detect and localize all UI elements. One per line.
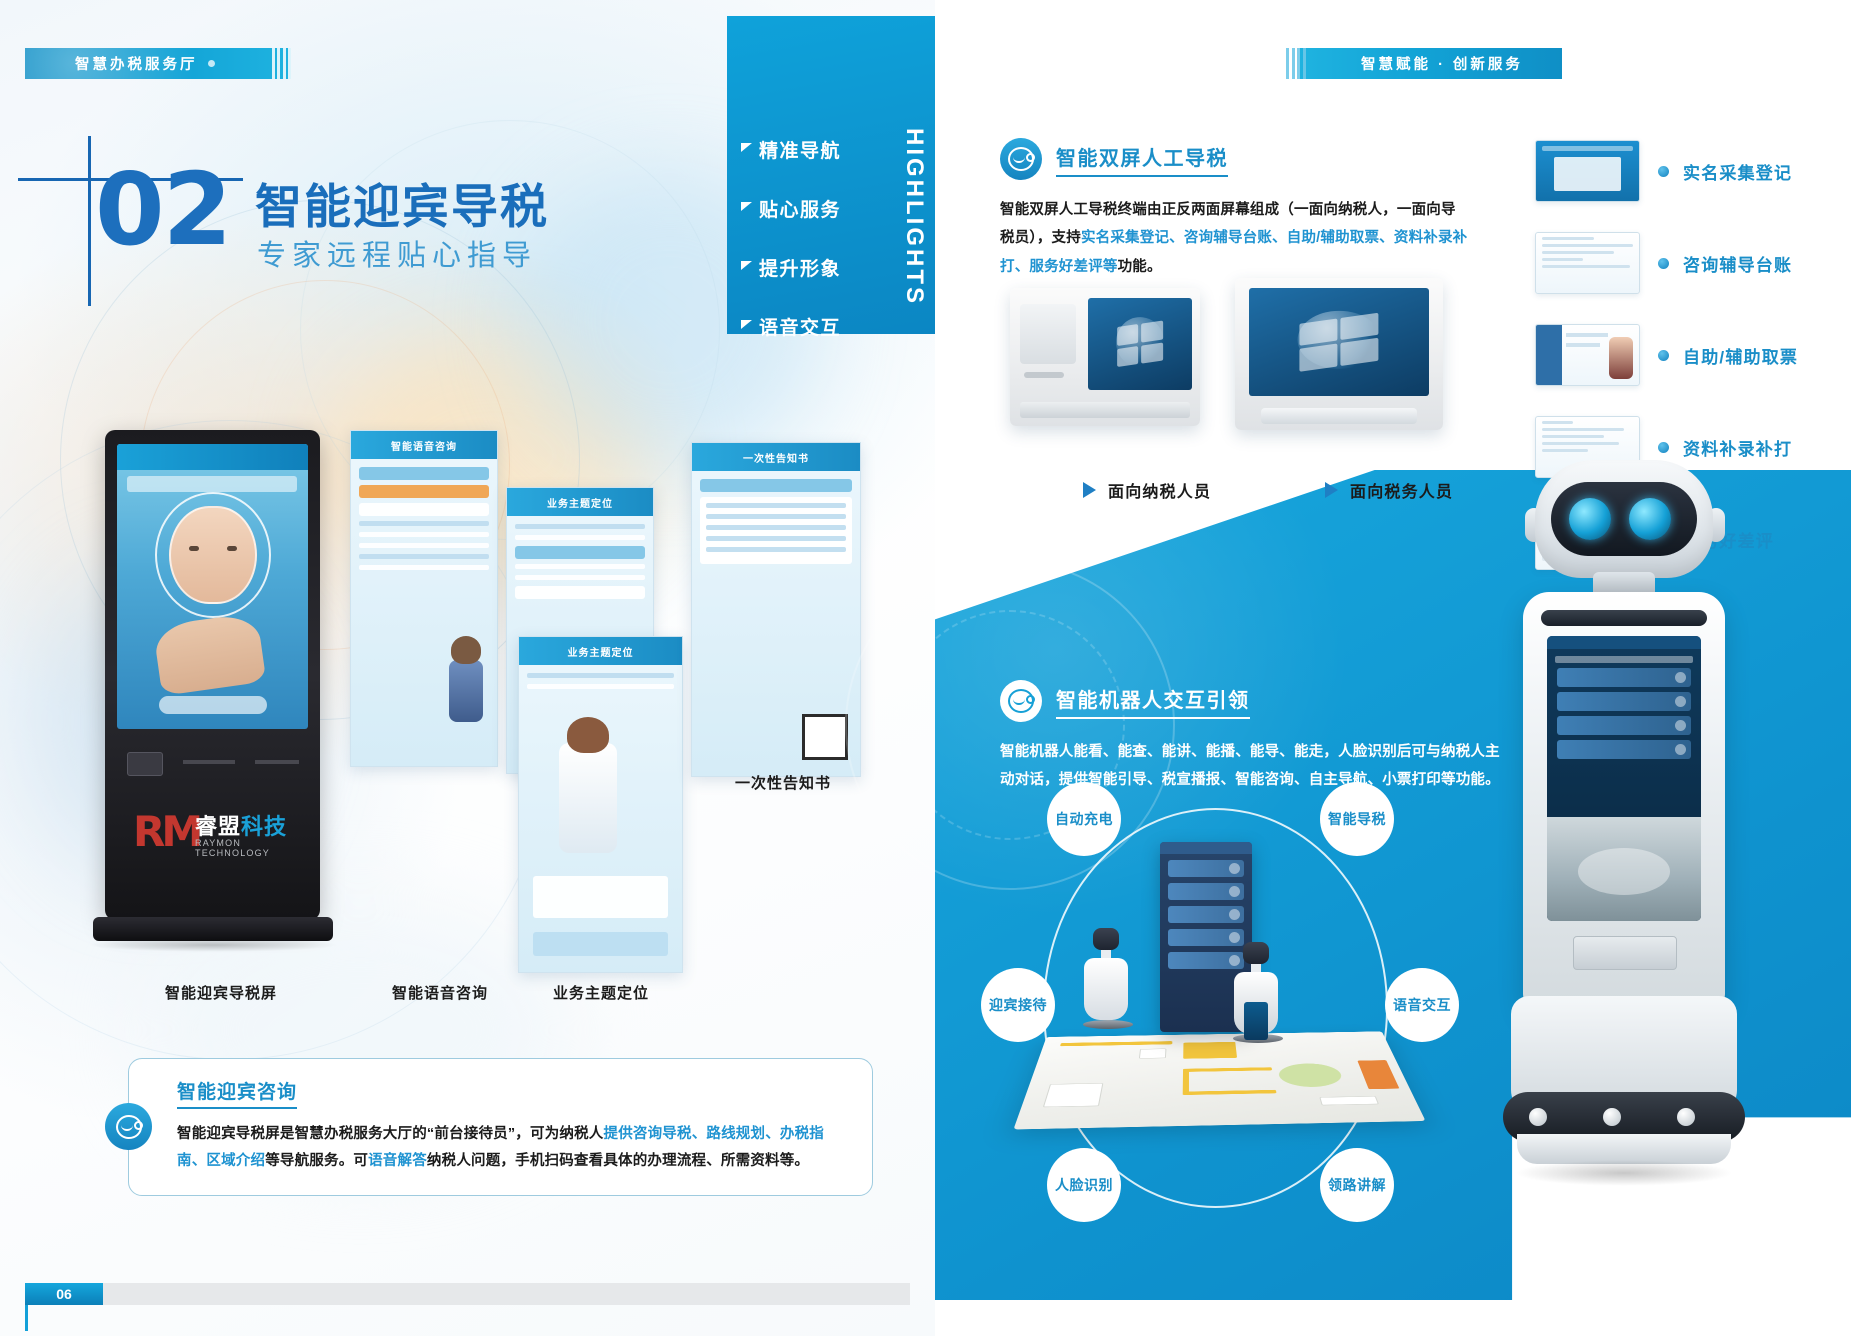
triangle-icon — [1083, 482, 1096, 498]
mock-panel — [533, 932, 668, 956]
screen-mock-header: 智能语音咨询 — [351, 431, 497, 459]
feature-label: 资料补录补打 — [1683, 435, 1792, 460]
right-header-ribbon: 智慧赋能 · 创新服务 — [1300, 48, 1562, 79]
robot-body — [1234, 972, 1278, 1034]
kiosk-photo: RM 睿盟科技 RAYMON TECHNOLOGY — [105, 430, 330, 960]
feature-row: 自助/辅助取票 — [1535, 324, 1835, 386]
robot-screen-title — [1555, 656, 1693, 663]
device-frame — [1235, 278, 1443, 430]
mock-line — [515, 524, 645, 529]
ribbon-glow — [25, 48, 291, 79]
windows-logo-icon — [1299, 313, 1378, 372]
feature-row: 咨询辅导台账 — [1535, 232, 1835, 294]
robot-screen-header — [1547, 636, 1701, 649]
body-text: 等导航服务。可 — [265, 1153, 368, 1169]
device-caption-officer: 面向税务人员 — [1325, 478, 1453, 502]
robot-neck — [1251, 964, 1261, 972]
body-text: 智能机器人能看、能查、能讲、能播、能导、能走，人脸识别后可与纳税人主动对话，提供… — [1000, 744, 1500, 788]
arrow-icon — [741, 202, 752, 211]
screen-mock-body — [519, 665, 682, 972]
ribbon-bars-icon — [272, 48, 292, 79]
highlight-item: 贴心服务 — [741, 195, 841, 222]
mock-chip — [515, 546, 645, 559]
mock-line — [515, 575, 645, 580]
left-header-ribbon: 智慧办税服务厅 — [25, 48, 291, 79]
highlight-label: 贴心服务 — [759, 195, 841, 222]
arrow-icon — [741, 320, 752, 329]
person-illustration — [449, 660, 483, 722]
section-dual-screen: 智能双屏人工导税 智能双屏人工导税终端由正反两面屏幕组成（一面向纳税人，一面向导… — [1000, 138, 1470, 281]
robot-screen — [1547, 636, 1701, 921]
section-body: 智能双屏人工导税终端由正反两面屏幕组成（一面向纳税人，一面向导税员），支持实名采… — [1000, 196, 1470, 281]
smiley-badge-icon — [105, 1103, 152, 1150]
left-footer-accent — [25, 1305, 28, 1331]
mock-line — [527, 684, 674, 689]
body-text: 功能。 — [1118, 259, 1162, 275]
robot-base — [1083, 1020, 1133, 1029]
floorplan-model — [1013, 1031, 1425, 1129]
robot-head — [1093, 928, 1119, 950]
screen-mock-header: 一次性告知书 — [692, 443, 860, 471]
device-photo-taxpayer-side — [1010, 288, 1200, 426]
bullet-icon — [1658, 442, 1669, 453]
mock-line — [515, 535, 645, 540]
feature-thumbnail — [1535, 324, 1640, 386]
info-card-title: 智能迎宾咨询 — [177, 1077, 297, 1109]
mock-line — [706, 547, 846, 552]
robot-photo — [1475, 460, 1775, 1190]
kiosk-shadow — [87, 938, 339, 952]
capability-label: 领路讲解 — [1328, 1175, 1386, 1195]
qr-code-icon — [802, 714, 848, 760]
section-header: 智能机器人交互引领 — [1000, 680, 1500, 722]
robot-neck — [1101, 950, 1111, 958]
robot-printer-slot — [1573, 936, 1677, 970]
smiley-badge-icon — [1000, 680, 1042, 722]
person-head-illustration — [451, 636, 481, 664]
kiosk-screen — [117, 444, 308, 729]
mock-panel — [533, 876, 668, 918]
highlight-item: 提升形象 — [741, 254, 841, 281]
mock-line — [706, 514, 846, 519]
mock-chip — [515, 586, 645, 599]
mock-line — [515, 564, 645, 569]
robot-screen — [1244, 1002, 1268, 1040]
screen-mock-header-label: 智能语音咨询 — [391, 438, 457, 453]
robot-screen-button — [1557, 740, 1691, 759]
screen-mock-body — [692, 471, 860, 776]
mock-line — [706, 536, 846, 541]
kiosk-mini-button — [1168, 883, 1244, 900]
feature-thumbnail — [1535, 140, 1640, 202]
highlight-label: 语音交互 — [759, 313, 841, 340]
page-subtitle: 专家远程贴心指导 — [257, 232, 537, 274]
badge-face-icon — [1008, 689, 1034, 713]
ribbon-bars-icon — [1286, 48, 1306, 79]
left-page: 智慧办税服务厅 02 智能迎宾导税 专家远程贴心指导 精准导航 贴心服务 提升形… — [0, 0, 935, 1336]
face-illustration — [169, 506, 257, 604]
screen-mock-header-label: 业务主题定位 — [568, 644, 634, 659]
capability-bubble: 人脸识别 — [1047, 1148, 1121, 1222]
device-tray — [1020, 402, 1190, 418]
mock-chip — [359, 503, 489, 516]
mock-line — [359, 543, 489, 548]
capability-label: 迎宾接待 — [989, 995, 1047, 1015]
title-rule-vertical — [88, 136, 91, 306]
caption-notice: 一次性告知书 — [735, 772, 831, 793]
printer-slot — [255, 760, 299, 764]
robot-screen-photo — [1547, 817, 1701, 921]
mock-document — [700, 497, 852, 564]
section-header: 智能双屏人工导税 — [1000, 138, 1470, 180]
info-card: 智能迎宾咨询 智能迎宾导税屏是智慧办税服务大厅的“前台接待员”，可为纳税人提供咨… — [128, 1058, 873, 1196]
device-screen — [1249, 288, 1429, 396]
logo-name-en: RAYMON TECHNOLOGY — [195, 838, 293, 858]
highlights-vertical-word: HIGHLIGHTS — [900, 128, 928, 306]
left-page-number: 06 — [25, 1283, 103, 1305]
device-panel — [1020, 304, 1076, 364]
bullet-icon — [1658, 166, 1669, 177]
kiosk-mini-button — [1168, 860, 1244, 877]
arrow-icon — [741, 261, 752, 270]
robot-eye-icon — [1629, 498, 1671, 540]
device-screen — [1088, 298, 1192, 390]
body-text: 纳税人问题，手机扫码查看具体的办理流程、所需资料等。 — [427, 1153, 809, 1169]
robot-screen-button — [1557, 668, 1691, 687]
section-robot: 智能机器人交互引领 智能机器人能看、能查、能讲、能播、能导、能走，人脸识别后可与… — [1000, 680, 1500, 795]
device-stand — [1261, 408, 1417, 424]
section-title: 智能双屏人工导税 — [1056, 142, 1228, 177]
logo-name-cn: 睿盟科技 — [195, 809, 287, 841]
robot-model-small — [1233, 942, 1279, 1043]
feature-thumbnail — [1535, 232, 1640, 294]
feature-row: 实名采集登记 — [1535, 140, 1835, 202]
capability-bubble: 自动充电 — [1047, 782, 1121, 856]
device-caption-taxpayer: 面向纳税人员 — [1083, 478, 1211, 502]
badge-face-icon — [1008, 147, 1034, 171]
kiosk-screen-header — [117, 444, 308, 470]
card-reader-icon — [127, 752, 163, 776]
kiosk-mini-header — [1160, 842, 1252, 854]
section-title: 智能机器人交互引领 — [1056, 684, 1250, 719]
device-caption-label: 面向纳税人员 — [1108, 478, 1211, 502]
robot-screen-button — [1557, 716, 1691, 735]
robot-sensor-bar — [1541, 610, 1707, 626]
highlight-item: 精准导航 — [741, 136, 841, 163]
windows-logo-icon — [1117, 321, 1163, 368]
info-card-body: 智能迎宾导税屏是智慧办税服务大厅的“前台接待员”，可为纳税人提供咨询导税、路线规… — [177, 1121, 825, 1175]
feature-label: 实名采集登记 — [1683, 159, 1792, 184]
screen-mock-voice: 智能语音咨询 — [350, 430, 498, 767]
robot-eye-icon — [1569, 498, 1611, 540]
kiosk-screen-button — [159, 696, 267, 714]
mock-chip — [359, 485, 489, 498]
highlights-list: 精准导航 贴心服务 提升形象 语音交互 — [741, 136, 841, 372]
kiosk-screen-titlebar — [127, 476, 297, 492]
highlight-label: 提升形象 — [759, 254, 841, 281]
mock-line — [706, 525, 846, 530]
screen-mock-theme: 业务主题定位 — [518, 636, 683, 973]
mock-line — [706, 503, 846, 508]
robot-screen-button — [1557, 692, 1691, 711]
kiosk-mini-button — [1168, 906, 1244, 923]
mock-line — [359, 532, 489, 537]
mock-line — [359, 554, 489, 559]
robot-body — [1084, 958, 1128, 1020]
robot-sensor-led — [1603, 1108, 1621, 1126]
robot-head — [1243, 942, 1269, 964]
body-text: 智能迎宾导税屏是智慧办税服务大厅的“前台接待员”，可为纳税人 — [177, 1126, 604, 1142]
device-frame — [1010, 288, 1200, 426]
assistant-head-illustration — [567, 717, 609, 753]
left-footer-bar: 06 — [25, 1283, 910, 1305]
screen-mock-header-label: 业务主题定位 — [547, 495, 613, 510]
robot-shadow — [1515, 1160, 1733, 1186]
feature-label: 咨询辅导台账 — [1683, 251, 1792, 276]
caption-voice: 智能语音咨询 — [392, 982, 488, 1003]
section-number: 02 — [95, 160, 230, 260]
device-caption-label: 面向税务人员 — [1350, 478, 1453, 502]
screen-mock-notice: 一次性告知书 — [691, 442, 861, 777]
mock-line — [359, 565, 489, 570]
mock-chip — [700, 479, 852, 492]
triangle-icon — [1325, 482, 1338, 498]
bullet-icon — [1658, 350, 1669, 361]
mock-line — [359, 521, 489, 526]
highlights-panel: 精准导航 贴心服务 提升形象 语音交互 HIGHLIGHTS — [727, 16, 945, 334]
capability-label: 人脸识别 — [1055, 1175, 1113, 1195]
screen-mock-body — [351, 459, 497, 766]
robot-sensor-led — [1529, 1108, 1547, 1126]
screen-mock-header: 业务主题定位 — [519, 637, 682, 665]
highlight-item: 语音交互 — [741, 313, 841, 340]
capability-bubble: 智能导税 — [1320, 782, 1394, 856]
screen-mock-header: 业务主题定位 — [507, 488, 653, 516]
bullet-icon — [1658, 258, 1669, 269]
feature-label: 自助/辅助取票 — [1683, 343, 1798, 368]
caption-kiosk: 智能迎宾导税屏 — [165, 982, 277, 1003]
kiosk-body: RM 睿盟科技 RAYMON TECHNOLOGY — [105, 430, 320, 920]
smiley-badge-icon — [1000, 138, 1042, 180]
robot-capability-diagram: 自动充电 智能导税 语音交互 领路讲解 人脸识别 迎宾接待 — [995, 800, 1435, 1220]
page-title: 智能迎宾导税 — [255, 168, 549, 237]
capability-bubble: 迎宾接待 — [981, 968, 1055, 1042]
arrow-icon — [741, 143, 752, 152]
badge-face-icon — [116, 1115, 142, 1139]
mock-line — [527, 673, 674, 678]
robot-model-small — [1083, 928, 1129, 1029]
highlighted-text: 语音解答 — [368, 1153, 427, 1169]
logo-mark: RM — [133, 807, 199, 856]
device-slot — [1024, 372, 1064, 378]
hand-illustration — [153, 612, 267, 696]
capability-label: 语音交互 — [1393, 995, 1451, 1015]
capability-label: 自动充电 — [1055, 809, 1113, 829]
screen-mock-header-label: 一次性告知书 — [743, 450, 809, 465]
kiosk-brand-logo: RM 睿盟科技 RAYMON TECHNOLOGY — [133, 805, 293, 857]
capability-label: 智能导税 — [1328, 809, 1386, 829]
printer-slot — [183, 760, 235, 764]
right-ribbon-label: 智慧赋能 · 创新服务 — [1361, 53, 1523, 74]
highlight-label: 精准导航 — [759, 136, 841, 163]
assistant-illustration — [559, 743, 617, 853]
caption-business: 业务主题定位 — [553, 982, 649, 1003]
right-page: 智慧赋能 · 创新服务 智能双屏人工导税 智能双屏人工导税终端由正反两面屏幕组成… — [935, 0, 1851, 1336]
robot-sensor-led — [1677, 1108, 1695, 1126]
capability-bubble: 领路讲解 — [1320, 1148, 1394, 1222]
device-photo-officer-side — [1235, 278, 1443, 430]
capability-bubble: 语音交互 — [1385, 968, 1459, 1042]
mock-chip — [359, 467, 489, 480]
